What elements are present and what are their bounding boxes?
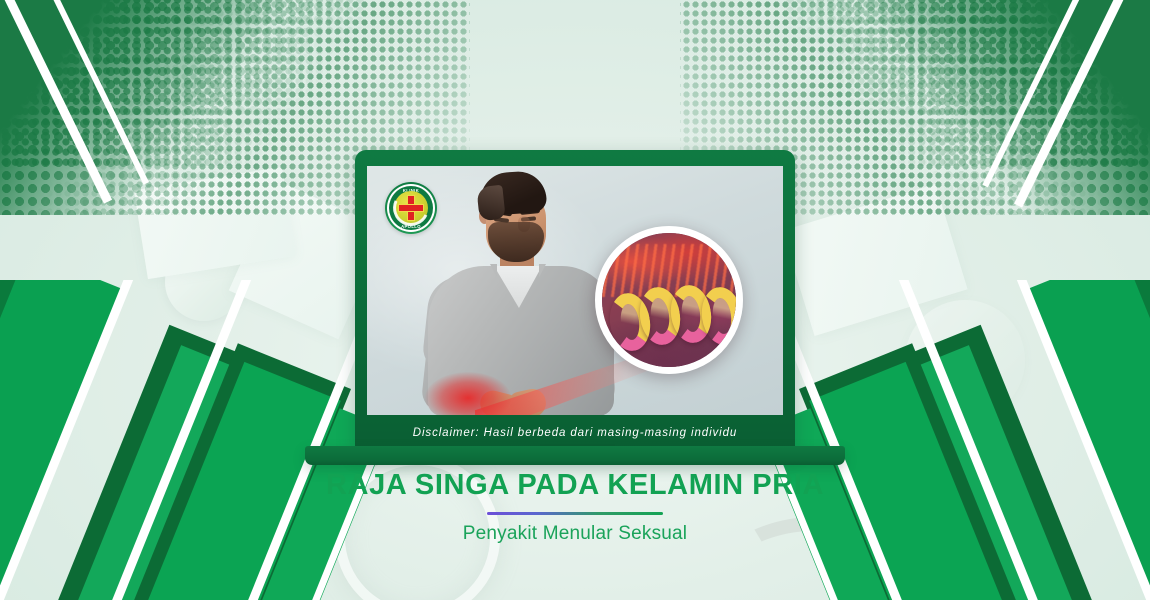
- slash-top-right-2: [982, 0, 1097, 187]
- bg-prop-small-circle: [205, 404, 245, 444]
- bg-prop-pill-circle: [165, 243, 243, 321]
- disclaimer-text: Disclaimer: Hasil berbeda dari masing-ma…: [413, 427, 737, 439]
- page-subtitle: Penyakit Menular Seksual: [0, 523, 1150, 545]
- spirochete-bacterium-icon: [608, 285, 743, 353]
- page-title: RAJA SINGA PADA KELAMIN PRIA: [0, 470, 1150, 501]
- stripe-shadow-l1: [0, 280, 119, 600]
- slash-top-right-1: [1014, 0, 1136, 208]
- stripe-white-l1: [0, 280, 144, 600]
- stripe-r1: [1026, 280, 1150, 600]
- syphilis-spirochete-closeup: [595, 226, 743, 374]
- stripe-shadow-l2: [42, 325, 279, 600]
- stripe-white-r2: [888, 280, 1054, 600]
- slash-top-left-1: [0, 0, 112, 204]
- poster-canvas: KLINIK APOLLO: [0, 0, 1150, 600]
- stripe-shadow-r1: [1031, 280, 1150, 600]
- bg-prop-paper-b: [134, 167, 296, 279]
- stripe-shadow-r2: [871, 325, 1108, 600]
- laptop-mockup: KLINIK APOLLO: [355, 150, 795, 465]
- stripe-l1: [0, 280, 124, 600]
- bg-prop-circle-right: [905, 300, 1025, 420]
- stripe-white-r1: [1006, 280, 1150, 600]
- stripe-white-l2: [96, 280, 262, 600]
- headings-block: RAJA SINGA PADA KELAMIN PRIA Penyakit Me…: [0, 470, 1150, 545]
- laptop-base: [305, 446, 845, 465]
- groin-pain-glow: [425, 372, 511, 415]
- logo-red-cross-icon-bar: [398, 204, 424, 212]
- bg-prop-paper-c: [782, 184, 967, 336]
- laptop-screen: KLINIK APOLLO: [367, 166, 783, 415]
- slash-top-left-2: [34, 0, 149, 185]
- screen-photo: KLINIK APOLLO: [367, 166, 783, 415]
- title-divider: [487, 512, 663, 516]
- man-beard: [488, 222, 544, 262]
- laptop-lid: KLINIK APOLLO: [355, 150, 795, 450]
- man-hair-side: [476, 185, 505, 222]
